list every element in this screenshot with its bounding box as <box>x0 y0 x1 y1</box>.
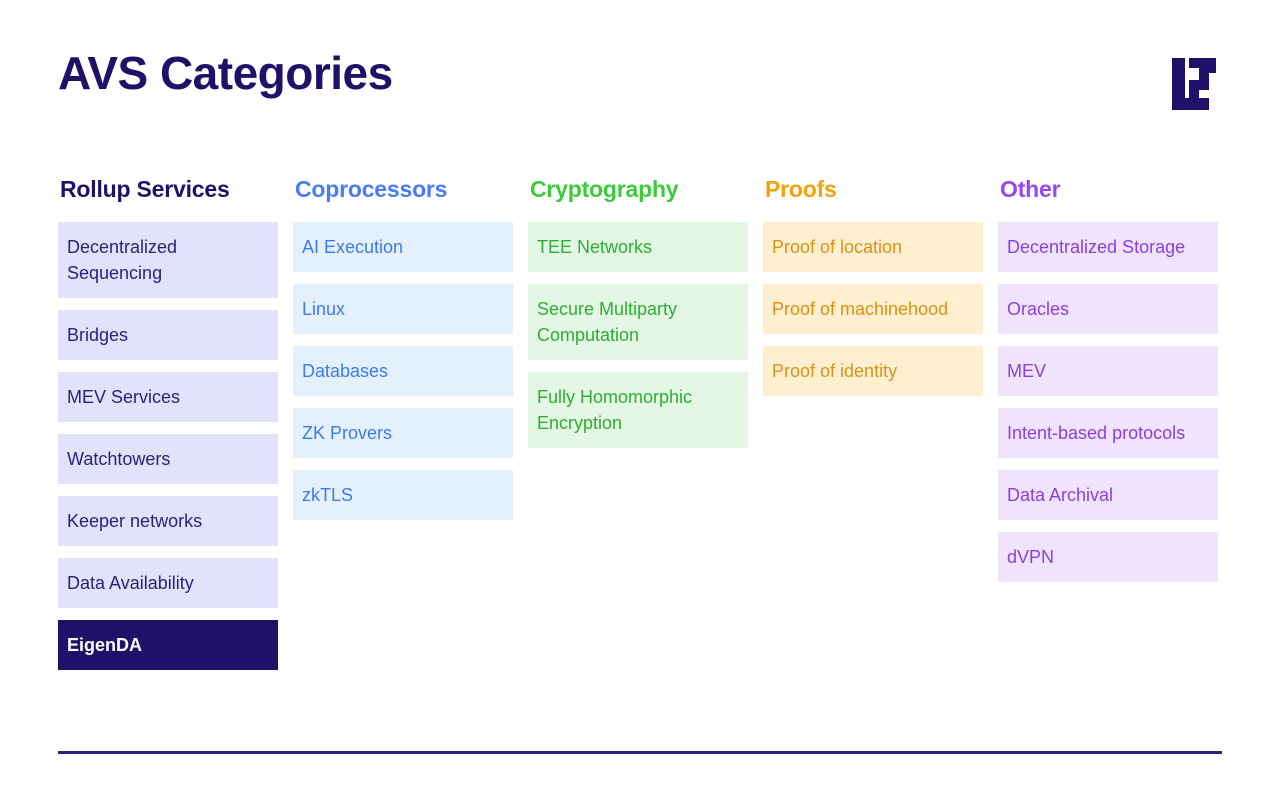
list-item[interactable]: MEV Services <box>58 372 278 422</box>
list-item[interactable]: TEE Networks <box>528 222 748 272</box>
column-coprocessors: Coprocessors AI Execution Linux Database… <box>293 176 513 532</box>
column-header-other: Other <box>1000 176 1218 204</box>
list-item[interactable]: zkTLS <box>293 470 513 520</box>
slide-header: AVS Categories <box>58 48 1222 128</box>
list-item[interactable]: Proof of identity <box>763 346 983 396</box>
list-item[interactable]: Secure Multiparty Computation <box>528 284 748 360</box>
list-item[interactable]: Watchtowers <box>58 434 278 484</box>
column-proofs: Proofs Proof of location Proof of machin… <box>763 176 983 408</box>
column-header-proofs: Proofs <box>765 176 983 204</box>
footer-divider <box>58 751 1222 754</box>
list-item[interactable]: Proof of location <box>763 222 983 272</box>
list-item[interactable]: Intent-based protocols <box>998 408 1218 458</box>
list-item[interactable]: MEV <box>998 346 1218 396</box>
list-item[interactable]: Keeper networks <box>58 496 278 546</box>
column-header-rollup-services: Rollup Services <box>60 176 278 204</box>
list-item[interactable]: Bridges <box>58 310 278 360</box>
slide-root: AVS Categories Rollup Services Decentral… <box>0 0 1280 800</box>
list-item[interactable]: dVPN <box>998 532 1218 582</box>
list-item[interactable]: Oracles <box>998 284 1218 334</box>
column-rollup-services: Rollup Services Decentralized Sequencing… <box>58 176 278 682</box>
list-item[interactable]: Fully Homomorphic Encryption <box>528 372 748 448</box>
list-item[interactable]: Proof of machinehood <box>763 284 983 334</box>
eigenlayer-logo-icon <box>1172 58 1222 110</box>
list-item[interactable]: Databases <box>293 346 513 396</box>
category-columns: Rollup Services Decentralized Sequencing… <box>58 176 1222 682</box>
list-item[interactable]: Data Availability <box>58 558 278 608</box>
list-item[interactable]: Linux <box>293 284 513 334</box>
column-other: Other Decentralized Storage Oracles MEV … <box>998 176 1218 594</box>
list-item[interactable]: AI Execution <box>293 222 513 272</box>
list-item[interactable]: ZK Provers <box>293 408 513 458</box>
page-title: AVS Categories <box>58 48 1222 99</box>
column-header-coprocessors: Coprocessors <box>295 176 513 204</box>
list-item[interactable]: Decentralized Sequencing <box>58 222 278 298</box>
list-item[interactable]: Decentralized Storage <box>998 222 1218 272</box>
list-item[interactable]: Data Archival <box>998 470 1218 520</box>
list-item-highlighted-eigenda[interactable]: EigenDA <box>58 620 278 670</box>
column-header-cryptography: Cryptography <box>530 176 748 204</box>
column-cryptography: Cryptography TEE Networks Secure Multipa… <box>528 176 748 460</box>
